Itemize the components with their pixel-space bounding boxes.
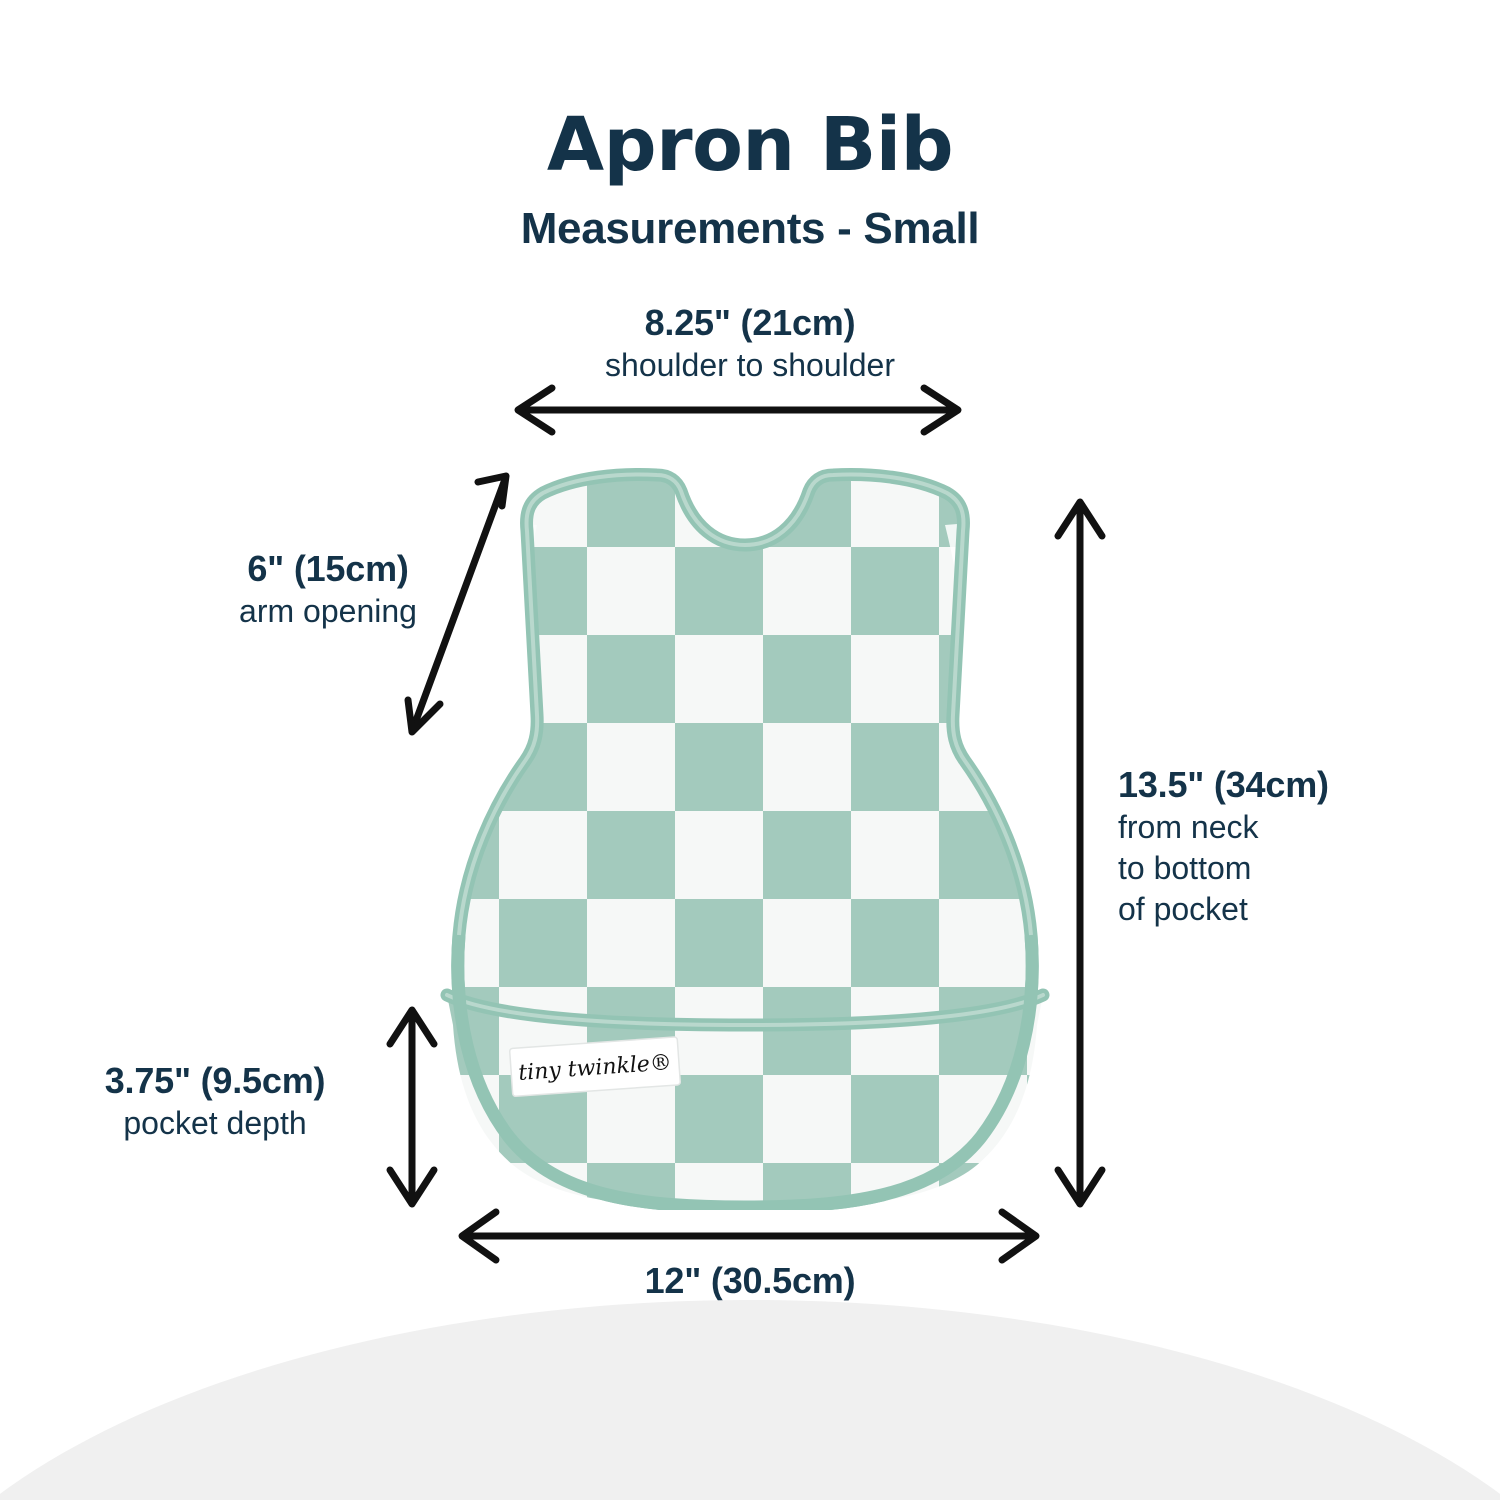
measurement-shoulder-to-shoulder: 8.25" (21cm) shoulder to shoulder xyxy=(0,300,1500,386)
measurement-description-line-1: from neck xyxy=(1118,807,1448,848)
measurement-value: 13.5" (34cm) xyxy=(1118,762,1448,807)
measurement-value: 3.75" (9.5cm) xyxy=(40,1058,390,1103)
measurement-arm-opening: 6" (15cm) arm opening xyxy=(118,546,538,632)
measurement-description-line-2: to bottom xyxy=(1118,848,1448,889)
page-subtitle: Measurements - Small xyxy=(0,204,1500,254)
measurement-value: 8.25" (21cm) xyxy=(0,300,1500,345)
measurement-neck-to-pocket: 13.5" (34cm) from neck to bottom of pock… xyxy=(1118,762,1448,930)
measurement-value: 12" (30.5cm) xyxy=(0,1258,1500,1303)
bib-pocket xyxy=(447,995,1043,1209)
diagram-canvas: Apron Bib Measurements - Small xyxy=(0,0,1500,1500)
page-title: Apron Bib xyxy=(0,108,1500,182)
measurement-description: arm opening xyxy=(118,591,538,632)
arrow-width-across-body xyxy=(462,1212,1036,1260)
measurement-description: shoulder to shoulder xyxy=(0,345,1500,386)
measurement-description-line-3: of pocket xyxy=(1118,889,1448,930)
measurement-pocket-depth: 3.75" (9.5cm) pocket depth xyxy=(40,1058,390,1144)
measurement-description: pocket depth xyxy=(40,1103,390,1144)
arrow-shoulder-to-shoulder xyxy=(518,388,958,432)
measurement-value: 6" (15cm) xyxy=(118,546,538,591)
title-block: Apron Bib Measurements - Small xyxy=(0,108,1500,254)
